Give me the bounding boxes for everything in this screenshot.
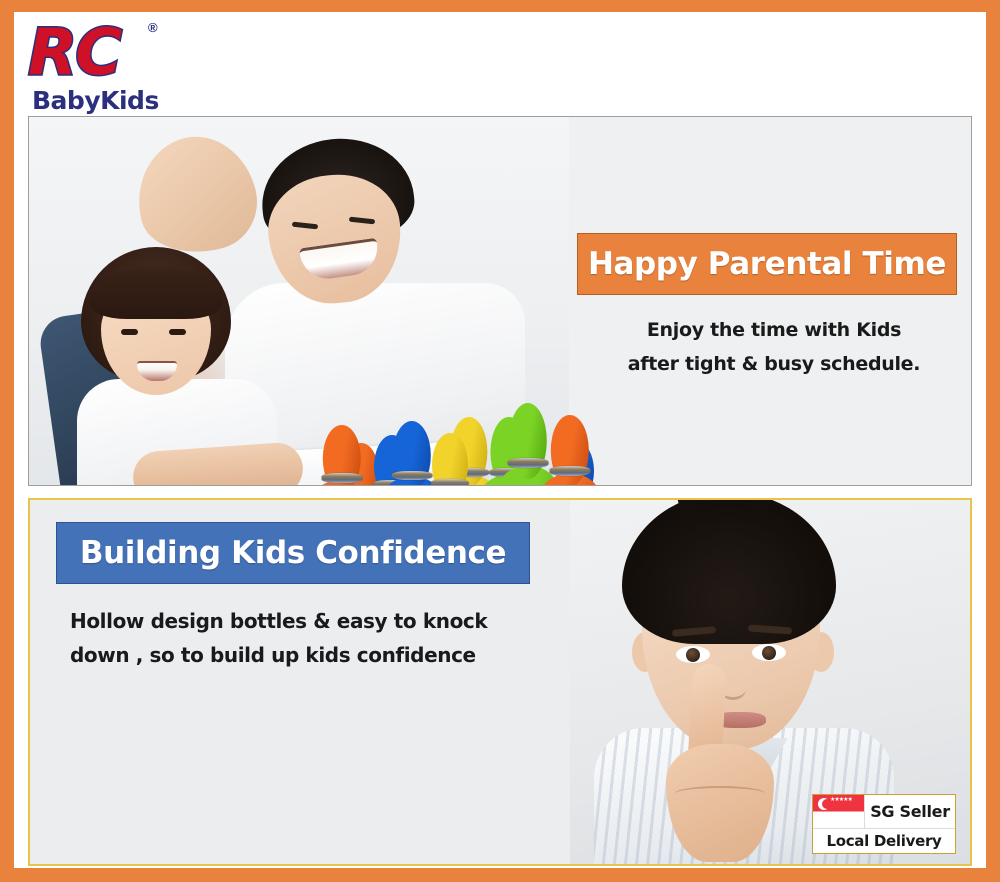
photo-detail-boy-eye-right [752, 644, 786, 661]
photo-detail-girl-eye-left [121, 329, 138, 335]
banner-happy-parental-time: Happy Parental Time [577, 233, 957, 295]
bowling-pin [421, 485, 479, 486]
local-delivery-label: Local Delivery [813, 828, 955, 853]
stars-icon: ★★★★★ [830, 797, 846, 803]
logo-rc-mark: RC [28, 18, 120, 88]
banner-building-kids-confidence-label: Building Kids Confidence [80, 535, 506, 571]
banner-building-kids-confidence: Building Kids Confidence [56, 522, 530, 584]
copy-happy-parental-time: Enjoy the time with Kids after tight & b… [589, 313, 959, 381]
brand-header: RC ® BabyKids [14, 12, 986, 116]
bowling-pin-band [508, 458, 549, 468]
banner-happy-parental-time-label: Happy Parental Time [588, 246, 946, 282]
bowling-pins-group-top [311, 365, 611, 486]
registered-trademark-icon: ® [148, 20, 158, 35]
singapore-flag-icon: ★★★★★ [813, 795, 865, 828]
photo-detail-feet [125, 124, 268, 265]
copy-bottom-line-1: Hollow design bottles & easy to knock [70, 604, 518, 638]
sg-seller-badge: ★★★★★ SG Seller Local Delivery [812, 794, 956, 854]
crescent-icon [818, 798, 830, 810]
brand-name-text: BabyKids [32, 86, 159, 115]
photo-detail-boy-eye-left [676, 646, 710, 663]
bowling-pin-band [550, 466, 591, 476]
sg-badge-top-row: ★★★★★ SG Seller [813, 795, 955, 828]
bowling-pin-band [322, 473, 363, 482]
sg-seller-label: SG Seller [865, 795, 955, 828]
photo-detail-boy-hand [666, 744, 774, 862]
panel-building-kids-confidence: Building Kids Confidence Hollow design b… [28, 498, 972, 866]
photo-detail-boy-knuckles [674, 786, 766, 802]
photo-detail-boy-hair [622, 500, 836, 644]
bowling-pin-band [392, 471, 433, 480]
bowling-pin-band [431, 479, 469, 486]
brand-logo: RC ® BabyKids [28, 18, 188, 114]
copy-top-line-2: after tight & busy schedule. [589, 347, 959, 381]
copy-building-kids-confidence: Hollow design bottles & easy to knock do… [56, 594, 530, 684]
photo-detail-girl-eye-right [169, 329, 186, 335]
listing-inner-canvas: RC ® BabyKids [14, 12, 986, 868]
panel-happy-parental-time: Happy Parental Time Enjoy the time with … [28, 116, 972, 486]
copy-bottom-line-2: down , so to build up kids confidence [70, 638, 518, 672]
copy-top-line-1: Enjoy the time with Kids [589, 313, 959, 347]
listing-image-frame: RC ® BabyKids [0, 0, 1000, 882]
